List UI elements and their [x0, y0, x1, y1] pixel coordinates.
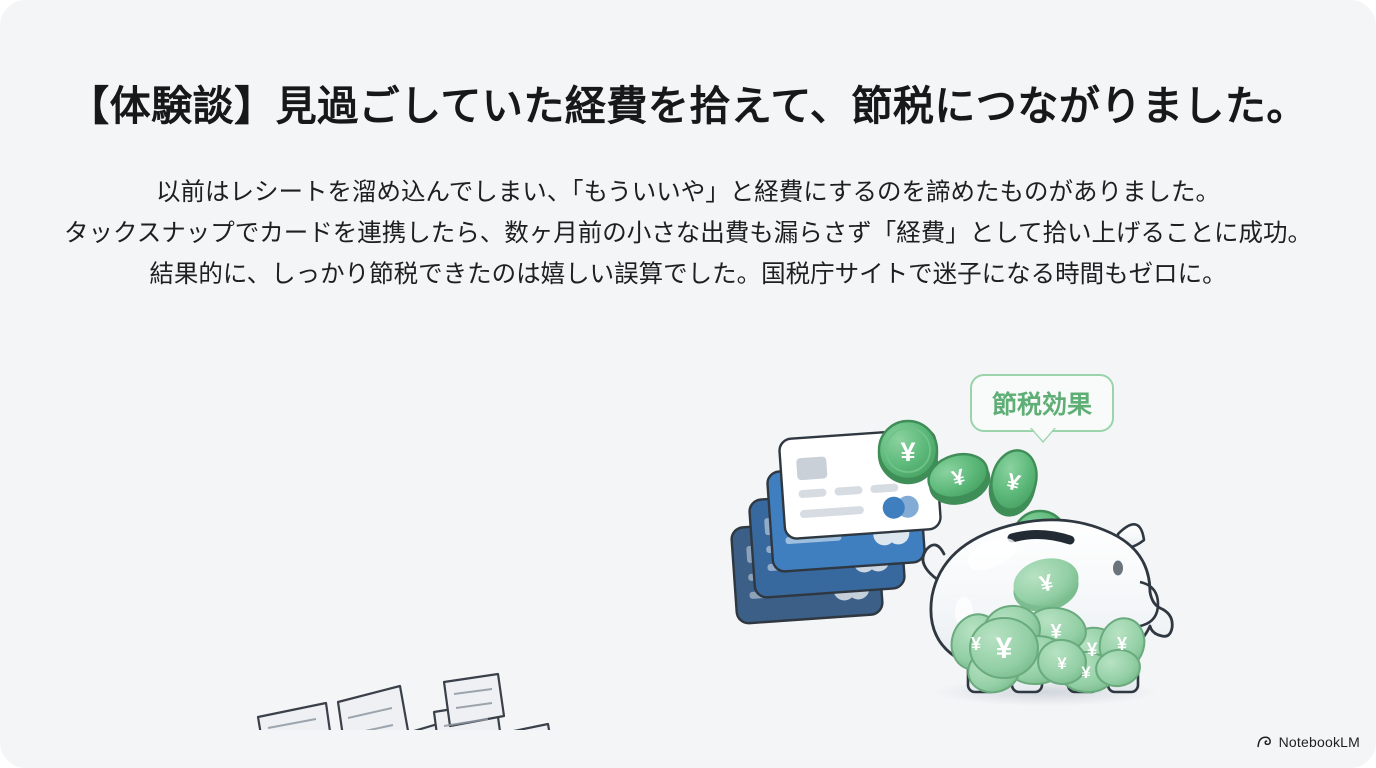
slide-canvas: 【体験談】見過ごしていた経費を拾えて、節税につながりました。 以前はレシートを溜… — [0, 0, 1376, 768]
svg-text:¥: ¥ — [1050, 621, 1062, 643]
tax-saving-badge: 節税効果 — [970, 374, 1114, 432]
notebooklm-spiral-icon — [1256, 733, 1273, 750]
page-title: 【体験談】見過ごしていた経費を拾えて、節税につながりました。 — [0, 72, 1376, 132]
watermark-label: NotebookLM — [1279, 734, 1360, 750]
svg-text:¥: ¥ — [1081, 663, 1091, 682]
svg-text:¥: ¥ — [1057, 654, 1067, 673]
receipt — [258, 703, 333, 730]
receipt — [444, 674, 504, 726]
illustration: ¥ ¥ ¥ ¥ — [0, 330, 1376, 730]
body-copy: 以前はレシートを溜め込んでしまい、「もういいや」と経費にするのを諦めたものがあり… — [0, 172, 1376, 295]
body-line-1: 以前はレシートを溜め込んでしまい、「もういいや」と経費にするのを諦めたものがあり… — [0, 172, 1376, 213]
receipt — [338, 686, 420, 730]
notebooklm-watermark: NotebookLM — [1256, 733, 1360, 750]
body-line-2: タックスナップでカードを連携したら、数ヶ月前の小さな出費も漏らさず「経費」として… — [0, 213, 1376, 254]
svg-text:¥: ¥ — [1117, 634, 1127, 654]
coin: ¥ — [879, 421, 937, 483]
piggy-eye — [1113, 561, 1123, 576]
coin: ¥ — [984, 446, 1043, 521]
svg-text:¥: ¥ — [996, 632, 1013, 665]
receipts-cluster — [222, 674, 558, 730]
svg-text:¥: ¥ — [971, 634, 981, 654]
svg-text:¥: ¥ — [1087, 640, 1098, 661]
piggy-bank: ¥ ¥ ¥ ¥ ¥ ¥ — [923, 520, 1172, 706]
body-line-3: 結果的に、しっかり節税できたのは嬉しい誤算でした。国税庁サイトで迷子になる時間も… — [0, 254, 1376, 295]
svg-text:¥: ¥ — [900, 437, 915, 467]
tax-saving-badge-tail — [1030, 426, 1056, 441]
